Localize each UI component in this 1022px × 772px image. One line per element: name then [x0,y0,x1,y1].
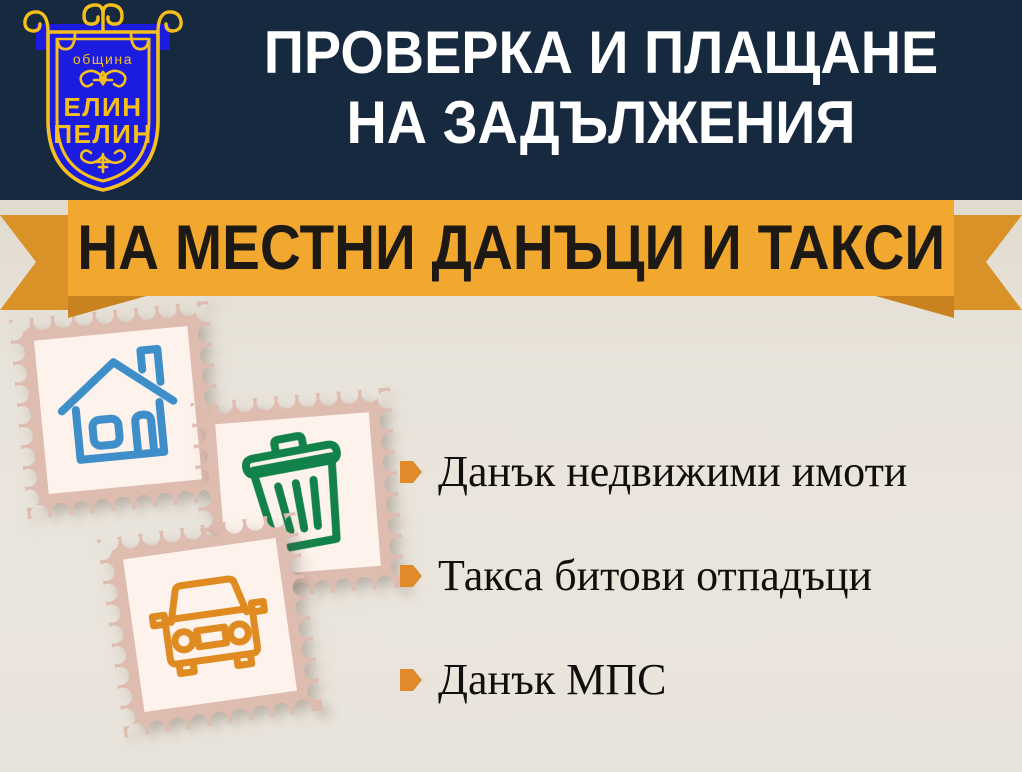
list-item[interactable]: Данък недвижими имоти [400,420,1012,524]
poster-root: община ЕЛИН ПЕЛИН [0,0,1022,772]
title-line-1: ПРОВЕРКА И ПЛАЩАНЕ [224,18,977,88]
municipality-emblem-icon: община ЕЛИН ПЕЛИН [18,2,188,198]
list-item-label: Такса битови отпадъци [438,551,872,601]
ribbon-fold-left [68,295,150,318]
stamp-car [97,512,323,738]
stamp-collection [0,285,420,772]
emblem-label-line1: ЕЛИН [63,92,142,122]
header-bar: община ЕЛИН ПЕЛИН [0,0,1022,200]
list-item-label: Данък МПС [438,655,666,705]
emblem-label-small: община [73,51,133,67]
tax-type-list: Данък недвижими имоти Такса битови отпад… [400,420,1012,732]
emblem-label-line2: ПЕЛИН [53,119,152,149]
page-title: ПРОВЕРКА И ПЛАЩАНЕ НА ЗАДЪЛЖЕНИЯ [196,18,1006,158]
bullet-arrow-icon [400,459,422,485]
subtitle-ribbon [0,196,1022,316]
ribbon-front-panel [68,200,954,296]
ribbon-tail-left [0,215,72,310]
bullet-arrow-icon [400,563,422,589]
title-line-2: НА ЗАДЪЛЖЕНИЯ [224,88,977,158]
list-item[interactable]: Такса битови отпадъци [400,524,1012,628]
bullet-arrow-icon [400,667,422,693]
list-item-label: Данък недвижими имоти [438,447,907,497]
ribbon-tail-right [950,215,1022,310]
list-item[interactable]: Данък МПС [400,628,1012,732]
ribbon-fold-right [872,295,954,318]
